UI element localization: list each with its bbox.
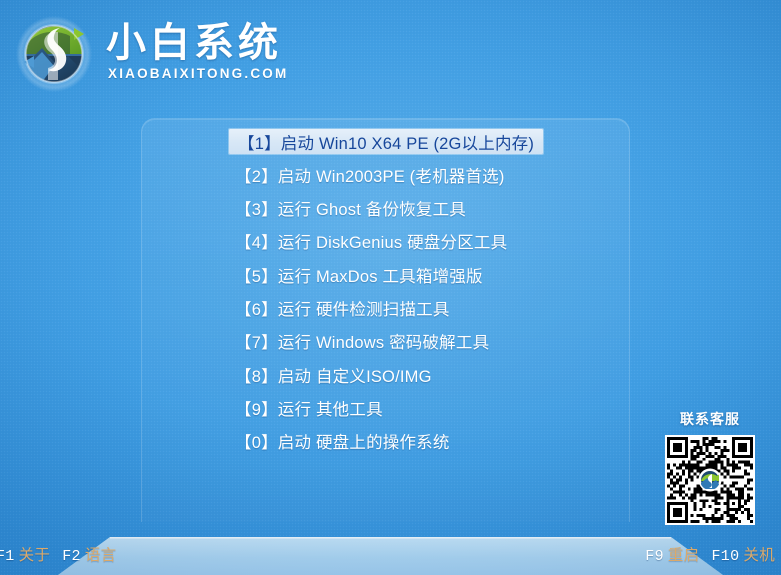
menu-item-7[interactable]: 【7】运行 Windows 密码破解工具 bbox=[229, 329, 495, 354]
brand-name-cn: 小白系统 bbox=[106, 22, 288, 64]
menu-item-key: 【3】 bbox=[235, 196, 278, 220]
menu-item-key: 【8】 bbox=[235, 363, 278, 387]
menu-item-label: 启动 Win10 X64 PE (2G以上内存) bbox=[281, 130, 534, 154]
menu-item-3[interactable]: 【3】运行 Ghost 备份恢复工具 bbox=[229, 196, 472, 221]
support-label: 联系客服 bbox=[660, 409, 760, 429]
menu-item-1[interactable]: 【1】启动 Win10 X64 PE (2G以上内存) bbox=[229, 129, 543, 154]
menu-item-key: 【1】 bbox=[238, 130, 281, 154]
menu-item-key: 【4】 bbox=[235, 229, 278, 253]
menu-item-key: 【6】 bbox=[235, 296, 278, 320]
circular-swirl-logo-icon bbox=[12, 12, 96, 96]
menu-item-9[interactable]: 【9】运行 其他工具 bbox=[229, 395, 389, 420]
hotkeys-left: F1关于F2语言 bbox=[0, 543, 116, 565]
menu-item-label: 启动 自定义ISO/IMG bbox=[278, 363, 432, 387]
hotkey-f10-label[interactable]: 关机 bbox=[743, 547, 775, 564]
brand-logo: 小白系统 XIAOBAIXITONG.COM bbox=[12, 12, 288, 96]
menu-item-label: 运行 MaxDos 工具箱增强版 bbox=[278, 263, 483, 287]
menu-item-key: 【5】 bbox=[235, 263, 278, 287]
menu-item-6[interactable]: 【6】运行 硬件检测扫描工具 bbox=[229, 295, 456, 320]
menu-item-label: 运行 其他工具 bbox=[278, 396, 383, 420]
hotkey-f2-label[interactable]: 语言 bbox=[85, 547, 117, 564]
brand-text: 小白系统 XIAOBAIXITONG.COM bbox=[106, 22, 288, 86]
hotkey-f2-key: F2 bbox=[62, 548, 81, 565]
menu-item-10[interactable]: 【0】启动 硬盘上的操作系统 bbox=[229, 429, 456, 454]
menu-item-label: 启动 硬盘上的操作系统 bbox=[278, 429, 450, 453]
hotkey-f10-key: F10 bbox=[711, 548, 739, 565]
menu-item-key: 【9】 bbox=[235, 396, 278, 420]
boot-menu-screen: 小白系统 XIAOBAIXITONG.COM 【1】启动 Win10 X64 P… bbox=[0, 0, 781, 575]
menu-item-label: 启动 Win2003PE (老机器首选) bbox=[278, 163, 505, 187]
menu-item-2[interactable]: 【2】启动 Win2003PE (老机器首选) bbox=[229, 162, 511, 187]
hotkeys-right: F9重启F10关机 bbox=[645, 543, 775, 565]
hotkey-f1-label[interactable]: 关于 bbox=[19, 547, 51, 564]
hotkey-f1-key: F1 bbox=[0, 548, 15, 565]
menu-item-key: 【0】 bbox=[235, 429, 278, 453]
hotkey-f9-key: F9 bbox=[645, 548, 664, 565]
menu-item-label: 运行 硬件检测扫描工具 bbox=[278, 296, 450, 320]
menu-item-label: 运行 DiskGenius 硬盘分区工具 bbox=[278, 229, 508, 253]
menu-item-key: 【7】 bbox=[235, 329, 278, 353]
menu-item-8[interactable]: 【8】启动 自定义ISO/IMG bbox=[229, 362, 438, 387]
menu-item-key: 【2】 bbox=[235, 163, 278, 187]
support-block: 联系客服 bbox=[660, 409, 760, 525]
hotkey-f9-label[interactable]: 重启 bbox=[668, 547, 700, 564]
qr-code-icon[interactable] bbox=[665, 435, 755, 525]
boot-menu-list: 【1】启动 Win10 X64 PE (2G以上内存)【2】启动 Win2003… bbox=[229, 129, 569, 462]
brand-name-en: XIAOBAIXITONG.COM bbox=[108, 66, 288, 82]
qr-center-logo-icon bbox=[700, 470, 720, 490]
menu-item-5[interactable]: 【5】运行 MaxDos 工具箱增强版 bbox=[229, 262, 489, 287]
menu-item-label: 运行 Windows 密码破解工具 bbox=[278, 329, 490, 353]
menu-item-label: 运行 Ghost 备份恢复工具 bbox=[278, 196, 466, 220]
menu-item-4[interactable]: 【4】运行 DiskGenius 硬盘分区工具 bbox=[229, 229, 513, 254]
